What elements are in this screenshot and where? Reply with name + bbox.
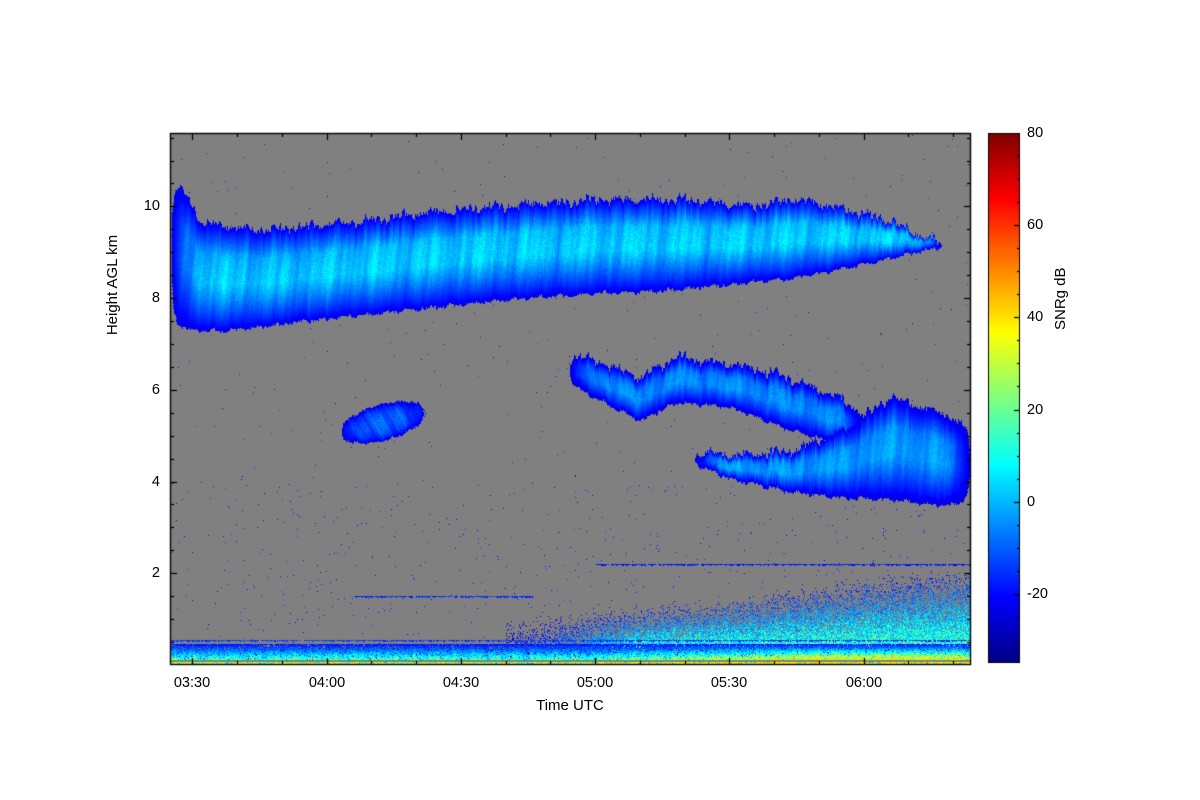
y-tick-label-0: 2 xyxy=(152,565,160,581)
x-tick-label-5: 06:00 xyxy=(846,675,882,691)
colorbar-tick-label-4: 60 xyxy=(1027,217,1043,233)
y-axis-label: Height AGL km xyxy=(104,85,121,285)
y-tick-label-4: 10 xyxy=(144,198,160,214)
y-tick-label-1: 4 xyxy=(152,474,160,490)
colorbar-tick-label-5: 80 xyxy=(1027,125,1043,141)
colorbar-tick-label-0: -20 xyxy=(1027,586,1048,602)
colorbar-label: SNRg dB xyxy=(1052,267,1069,330)
colorbar-tick-label-2: 20 xyxy=(1027,402,1043,418)
x-axis-label: Time UTC xyxy=(0,697,1140,714)
x-tick-label-0: 03:30 xyxy=(174,675,210,691)
y-tick-label-3: 8 xyxy=(152,290,160,306)
colorbar-tick-label-1: 0 xyxy=(1027,494,1035,510)
colorbar-tick-label-3: 40 xyxy=(1027,309,1043,325)
x-tick-label-1: 04:00 xyxy=(309,675,345,691)
y-tick-label-2: 6 xyxy=(152,382,160,398)
x-tick-label-4: 05:30 xyxy=(711,675,747,691)
radar-reflectivity-figure: 20140403_0000.mmclx Reflectivity SNRg 03… xyxy=(0,0,1200,800)
x-tick-label-3: 05:00 xyxy=(577,675,613,691)
x-tick-label-2: 04:30 xyxy=(443,675,479,691)
